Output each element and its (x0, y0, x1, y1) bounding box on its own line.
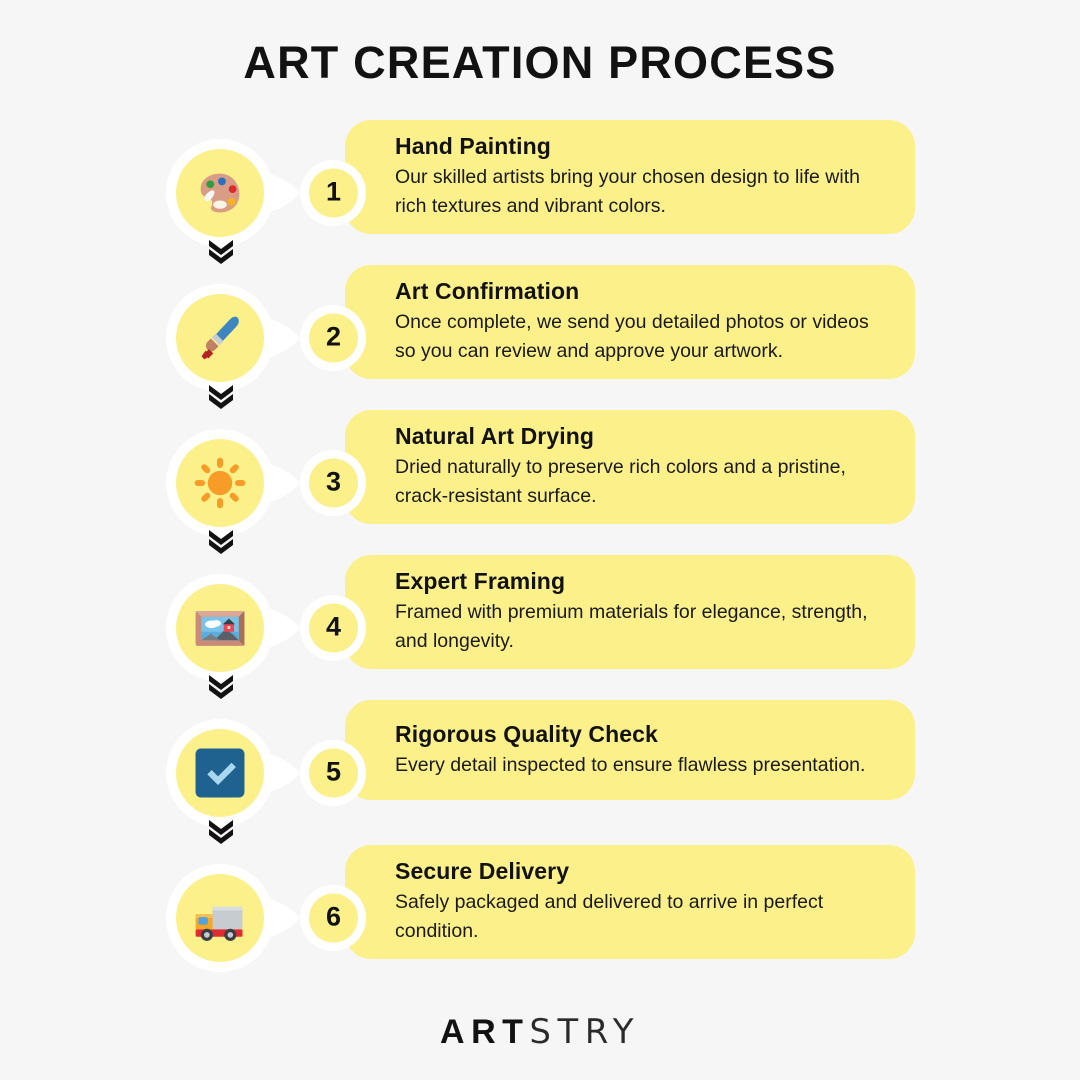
process-step-6: Secure Delivery Safely packaged and deli… (0, 845, 1080, 990)
step-number-1: 1 (309, 168, 358, 217)
step-number-4: 4 (309, 603, 358, 652)
step-description: Safely packaged and delivered to arrive … (395, 888, 889, 947)
double-chevron-down-icon (206, 818, 236, 844)
step-number-5: 5 (309, 748, 358, 797)
step-description: Once complete, we send you detailed phot… (395, 308, 889, 367)
step-title: Secure Delivery (395, 857, 889, 886)
framed-picture-icon (190, 598, 250, 658)
infographic-poster: ART CREATION PROCESS Hand Painting Our s… (0, 0, 1080, 1080)
process-step-1: Hand Painting Our skilled artists bring … (0, 120, 1080, 265)
double-chevron-down-icon (206, 673, 236, 699)
step-title: Natural Art Drying (395, 422, 889, 451)
process-step-5: Rigorous Quality Check Every detail insp… (0, 700, 1080, 845)
step-description: Every detail inspected to ensure flawles… (395, 751, 889, 781)
step-icon-circle-6 (176, 874, 264, 962)
step-number-3: 3 (309, 458, 358, 507)
checkbox-check-icon (191, 744, 249, 802)
step-number-6: 6 (309, 893, 358, 942)
paintbrush-icon (189, 307, 251, 369)
step-title: Art Confirmation (395, 277, 889, 306)
step-panel-5: Rigorous Quality Check Every detail insp… (345, 700, 915, 800)
brand-logo: ARTSTRY (0, 1012, 1080, 1052)
step-title: Hand Painting (395, 132, 889, 161)
process-step-4: Expert Framing Framed with premium mater… (0, 555, 1080, 700)
brand-logo-bold: ART (440, 1013, 529, 1051)
step-panel-3: Natural Art Drying Dried naturally to pr… (345, 410, 915, 524)
step-description: Framed with premium materials for elegan… (395, 598, 889, 657)
step-title: Expert Framing (395, 567, 889, 596)
double-chevron-down-icon (206, 528, 236, 554)
step-description: Dried naturally to preserve rich colors … (395, 453, 889, 512)
step-panel-2: Art Confirmation Once complete, we send … (345, 265, 915, 379)
step-panel-6: Secure Delivery Safely packaged and deli… (345, 845, 915, 959)
sun-icon (190, 453, 250, 513)
step-icon-circle-3 (176, 439, 264, 527)
step-number-2: 2 (309, 313, 358, 362)
step-title: Rigorous Quality Check (395, 720, 889, 749)
process-step-3: Natural Art Drying Dried naturally to pr… (0, 410, 1080, 555)
double-chevron-down-icon (206, 238, 236, 264)
process-step-2: Art Confirmation Once complete, we send … (0, 265, 1080, 410)
process-steps-list: Hand Painting Our skilled artists bring … (0, 120, 1080, 990)
step-description: Our skilled artists bring your chosen de… (395, 163, 889, 222)
step-icon-circle-4 (176, 584, 264, 672)
step-icon-circle-5 (176, 729, 264, 817)
brand-logo-light: STRY (529, 1012, 640, 1052)
step-panel-1: Hand Painting Our skilled artists bring … (345, 120, 915, 234)
palette-icon (189, 162, 251, 224)
page-title: ART CREATION PROCESS (0, 37, 1080, 89)
step-icon-circle-1 (176, 149, 264, 237)
delivery-truck-icon (190, 888, 250, 948)
step-icon-circle-2 (176, 294, 264, 382)
step-panel-4: Expert Framing Framed with premium mater… (345, 555, 915, 669)
double-chevron-down-icon (206, 383, 236, 409)
